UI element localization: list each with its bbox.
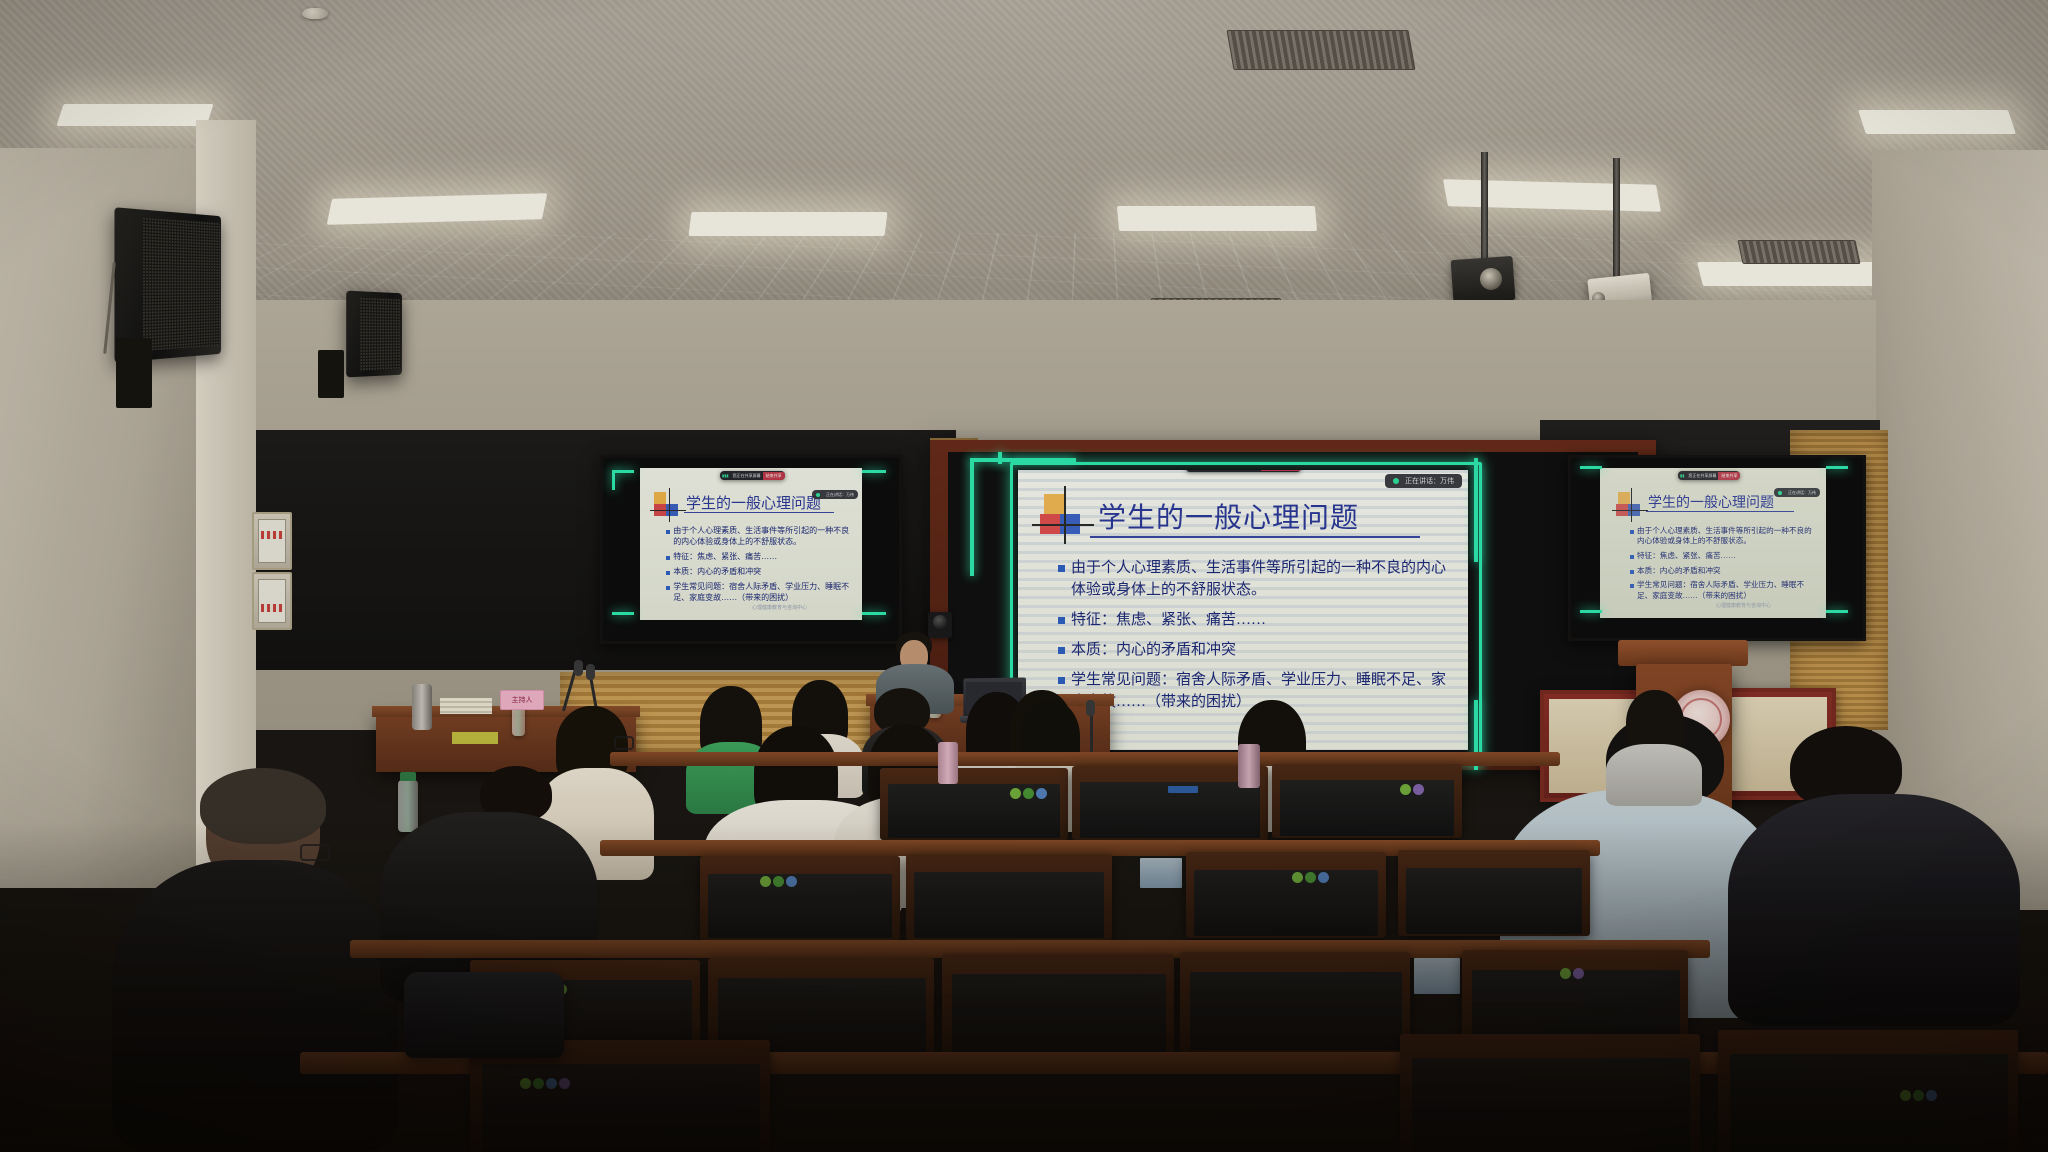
microphone-icon — [1393, 478, 1399, 484]
slide-bullet-text: 由于个人心理素质、生活事件等所引起的一种不良的内心体验或身体上的不舒服状态。 — [1637, 526, 1812, 547]
sticker-badge — [1560, 968, 1571, 979]
seat-panel — [914, 872, 1104, 938]
breaker-panel — [252, 512, 292, 570]
screen-corner-indicator — [1580, 466, 1602, 469]
seat-panel — [1412, 1058, 1690, 1152]
sticker-badge — [546, 1078, 557, 1089]
camera-lens-icon — [933, 615, 947, 629]
seat-panel — [1190, 972, 1402, 1050]
active-speaker-bar: 正在讲话：万伟 — [812, 490, 858, 499]
led-corner-strip — [1474, 458, 1478, 562]
stacked-books — [440, 698, 492, 714]
projector-mount-pole — [1613, 158, 1620, 280]
slide-title: 学生的一般心理问题 — [1098, 496, 1359, 536]
side-table-name-card: 主持人 — [500, 690, 544, 710]
sticker-badge — [1023, 788, 1034, 799]
ceiling-panel-light — [1117, 206, 1317, 231]
slide-bullet-text: 学生常见问题：宿舍人际矛盾、学业压力、睡眠不足、家庭变故……（带来的困扰） — [1637, 580, 1812, 601]
slide-bullet-list: 由于个人心理素质、生活事件等所引起的一种不良的内心体验或身体上的不舒服状态。 特… — [1630, 526, 1812, 606]
bullet-marker-icon — [666, 586, 670, 590]
seat-panel — [952, 974, 1166, 1052]
led-corner-strip — [998, 452, 1002, 464]
screen-share-label: 您正在共享屏幕 — [1686, 473, 1718, 479]
slide-bullet-text: 本质：内心的矛盾和冲突 — [1071, 640, 1448, 662]
seat-stickers — [1560, 968, 1584, 979]
glasses-icon — [300, 844, 330, 861]
left-screen-surface: 学生的一般心理问题 由于个人心理素质、生活事件等所引起的一种不良的内心体验或身体… — [640, 468, 862, 620]
screen-corner-indicator — [612, 612, 634, 615]
sticker-badge — [786, 876, 797, 887]
seat-stickers — [760, 876, 797, 887]
seat-writing-pad — [1140, 858, 1182, 888]
stacked-paper — [452, 732, 498, 744]
slide-title-rule — [1646, 511, 1794, 512]
microphone-icon — [1086, 700, 1095, 716]
screen-corner-indicator — [862, 612, 886, 615]
bullet-marker-icon — [666, 556, 670, 560]
microphone-icon — [586, 664, 595, 680]
screen-corner-indicator — [612, 470, 634, 473]
screen-corner-indicator — [1826, 610, 1848, 613]
slide-title: 学生的一般心理问题 — [1648, 492, 1774, 512]
smoke-detector-icon — [302, 8, 328, 19]
ceiling-panel-light — [1697, 262, 1893, 286]
active-speaker-label: 正在讲话：万伟 — [1788, 490, 1816, 496]
sticker-badge — [1318, 872, 1329, 883]
slide-bullet-item: 学生常见问题：宿舍人际矛盾、学业压力、睡眠不足、家庭变故……（带来的困扰） — [1630, 580, 1812, 601]
slide-bullet-item: 由于个人心理素质、生活事件等所引起的一种不良的内心体验或身体上的不舒服状态。 — [666, 526, 852, 548]
microphone-icon — [816, 493, 820, 497]
screen-corner-indicator — [1580, 610, 1602, 613]
slide-bullet-item: 学生常见问题：宿舍人际矛盾、学业压力、睡眠不足、家庭变故……（带来的困扰） — [666, 582, 852, 604]
slide-bullet-item: 由于个人心理素质、生活事件等所引起的一种不良的内心体验或身体上的不舒服状态。 — [1630, 526, 1812, 547]
screen-corner-indicator — [612, 470, 615, 490]
glasses-icon — [614, 736, 634, 750]
screen-share-label: 您正在共享屏幕 — [731, 473, 763, 479]
sticker-badge — [1400, 784, 1411, 795]
bullet-marker-icon — [1058, 617, 1065, 624]
breaker-panel — [252, 572, 292, 630]
sticker-badge — [1010, 788, 1021, 799]
bullet-marker-icon — [1058, 647, 1065, 654]
speaker-grille — [143, 217, 220, 351]
screen-corner-indicator — [1826, 466, 1848, 469]
sticker-badge — [520, 1078, 531, 1089]
water-bottle — [398, 780, 418, 832]
seat-number-label — [1168, 786, 1198, 793]
sticker-badge — [533, 1078, 544, 1089]
seat-stickers — [1400, 784, 1424, 795]
breaker-switches — [261, 531, 283, 539]
stop-share-button[interactable]: 结束共享 — [1718, 472, 1740, 480]
sticker-badge — [1036, 788, 1047, 799]
led-corner-strip — [970, 458, 1076, 462]
seat-stickers — [1292, 872, 1329, 883]
seat-panel — [708, 874, 892, 938]
right-screen-surface: 学生的一般心理问题 由于个人心理素质、生活事件等所引起的一种不良的内心体验或身体… — [1600, 468, 1826, 618]
screen-share-bar[interactable]: ▮▮▮ 您正在共享屏幕 结束共享 — [720, 471, 785, 480]
active-speaker-label: 正在讲话：万伟 — [826, 492, 854, 498]
air-vent — [1737, 240, 1860, 264]
torso — [1728, 794, 2020, 1026]
stop-share-button[interactable]: 结束共享 — [763, 472, 785, 480]
sticker-badge — [559, 1078, 570, 1089]
active-speaker-label: 正在讲话：万伟 — [1405, 476, 1454, 486]
hair — [200, 768, 326, 844]
seat-writing-pad — [1414, 958, 1460, 994]
bullet-marker-icon — [1058, 677, 1065, 684]
slide-bullet-item: 由于个人心理素质、生活事件等所引起的一种不良的内心体验或身体上的不舒服状态。 — [1058, 558, 1448, 602]
bullet-marker-icon — [1630, 555, 1634, 559]
side-table-name-card-text: 主持人 — [512, 695, 533, 705]
ceiling-panel-light — [1858, 110, 2016, 134]
sticker-badge — [1913, 1090, 1924, 1101]
active-speaker-bar: 正在讲话：万伟 — [1385, 474, 1462, 488]
slide-bullet-text: 特征：焦虑、紧张、痛苦…… — [1637, 551, 1812, 561]
sticker-badge — [1413, 784, 1424, 795]
seat-panel — [1730, 1054, 2008, 1152]
ceiling-panel-light — [689, 212, 888, 236]
screen-share-bar[interactable]: ▮▮▮ 您正在共享屏幕 结束共享 — [1186, 470, 1301, 472]
signal-icon: ▮▮ — [1678, 473, 1686, 478]
slide-right: 学生的一般心理问题 由于个人心理素质、生活事件等所引起的一种不良的内心体验或身体… — [1600, 468, 1826, 618]
speaker-grille — [360, 297, 401, 371]
bullet-marker-icon — [1630, 570, 1634, 574]
sticker-badge — [1900, 1090, 1911, 1101]
sticker-badge — [1926, 1090, 1937, 1101]
breaker-panel-window — [258, 519, 286, 563]
slide-bullet-item: 特征：焦虑、紧张、痛苦…… — [1630, 551, 1812, 561]
slide-bullet-text: 学生常见问题：宿舍人际矛盾、学业压力、睡眠不足、家庭变故……（带来的困扰） — [673, 582, 852, 604]
slide-bullet-item: 本质：内心的矛盾和冲突 — [1058, 640, 1448, 662]
bullet-marker-icon — [666, 571, 670, 575]
seat-panel — [1280, 780, 1454, 836]
torso — [112, 860, 398, 1152]
bottle-cap — [400, 772, 416, 781]
slide-title-rule — [684, 512, 834, 513]
seat-stickers — [1900, 1090, 1937, 1101]
torso — [1606, 744, 1702, 806]
ceiling-panel-light — [1443, 179, 1661, 212]
bullet-marker-icon — [666, 530, 670, 534]
seat-stickers — [1010, 788, 1047, 799]
slide-logo-icon — [1616, 492, 1642, 518]
slide-footer: 心理健康教育与咨询中心 — [752, 604, 807, 611]
sticker-badge — [773, 876, 784, 887]
slide-logo-icon — [654, 492, 680, 518]
slide-title-rule — [1090, 536, 1420, 538]
slide-bullet-text: 由于个人心理素质、生活事件等所引起的一种不良的内心体验或身体上的不舒服状态。 — [673, 526, 852, 548]
microphone-icon — [574, 660, 583, 676]
projector-mount-pole — [1481, 152, 1488, 260]
slide-bullet-text: 本质：内心的矛盾和冲突 — [673, 567, 852, 578]
backpack — [404, 972, 564, 1058]
bullet-marker-icon — [1630, 584, 1634, 588]
air-vent — [1226, 30, 1415, 70]
podium-top — [1618, 640, 1748, 666]
seat-panel — [1194, 870, 1378, 936]
slide-title: 学生的一般心理问题 — [686, 492, 821, 513]
speaker-mount-bracket — [318, 350, 344, 398]
slide-bullet-text: 由于个人心理素质、生活事件等所引起的一种不良的内心体验或身体上的不舒服状态。 — [1071, 558, 1448, 602]
thermos-cup — [1238, 744, 1260, 788]
stop-share-button[interactable]: 结束共享 — [1261, 470, 1301, 471]
bullet-marker-icon — [1058, 565, 1065, 572]
projector-lens — [1480, 268, 1502, 290]
screen-corner-indicator — [862, 470, 886, 473]
active-speaker-bar: 正在讲话：万伟 — [1774, 488, 1820, 497]
slide-bullet-text: 特征：焦虑、紧张、痛苦…… — [673, 552, 852, 563]
slide-bullet-list: 由于个人心理素质、生活事件等所引起的一种不良的内心体验或身体上的不舒服状态。 特… — [1058, 558, 1448, 722]
slide-bullet-item: 本质：内心的矛盾和冲突 — [1630, 566, 1812, 576]
breaker-switches — [261, 604, 283, 612]
microphone-icon — [1778, 491, 1782, 495]
slide-logo-icon — [1040, 494, 1084, 538]
lecture-hall-photo: 学生的一般心理问题 由于个人心理素质、生活事件等所引起的一种不良的内心体验或身体… — [0, 0, 2048, 1152]
led-corner-strip — [970, 458, 974, 576]
thermos-cup — [938, 742, 958, 784]
breaker-panel-window — [258, 579, 286, 623]
sticker-badge — [1573, 968, 1584, 979]
signal-icon: ▮▮▮ — [720, 473, 731, 478]
seat-stickers — [520, 1078, 570, 1089]
speaker-mount-bracket — [116, 338, 152, 408]
slide-bullet-list: 由于个人心理素质、生活事件等所引起的一种不良的内心体验或身体上的不舒服状态。 特… — [666, 526, 852, 608]
screen-share-bar[interactable]: ▮▮ 您正在共享屏幕 结束共享 — [1678, 471, 1740, 480]
ceiling-panel-light — [56, 104, 213, 126]
slide-left: 学生的一般心理问题 由于个人心理素质、生活事件等所引起的一种不良的内心体验或身体… — [640, 468, 862, 620]
slide-bullet-item: 本质：内心的矛盾和冲突 — [666, 567, 852, 578]
sticker-badge — [760, 876, 771, 887]
seat-panel — [1406, 868, 1582, 934]
slide-bullet-item: 特征：焦虑、紧张、痛苦…… — [666, 552, 852, 563]
thermos-flask — [412, 684, 432, 730]
slide-bullet-text: 特征：焦虑、紧张、痛苦…… — [1071, 610, 1448, 632]
conference-camera — [928, 612, 952, 638]
slide-bullet-item: 特征：焦虑、紧张、痛苦…… — [1058, 610, 1448, 632]
sticker-badge — [1292, 872, 1303, 883]
slide-bullet-text: 本质：内心的矛盾和冲突 — [1637, 566, 1812, 576]
bullet-marker-icon — [1630, 530, 1634, 534]
sticker-badge — [1305, 872, 1316, 883]
slide-footer: 心理健康教育与咨询中心 — [1716, 602, 1771, 609]
